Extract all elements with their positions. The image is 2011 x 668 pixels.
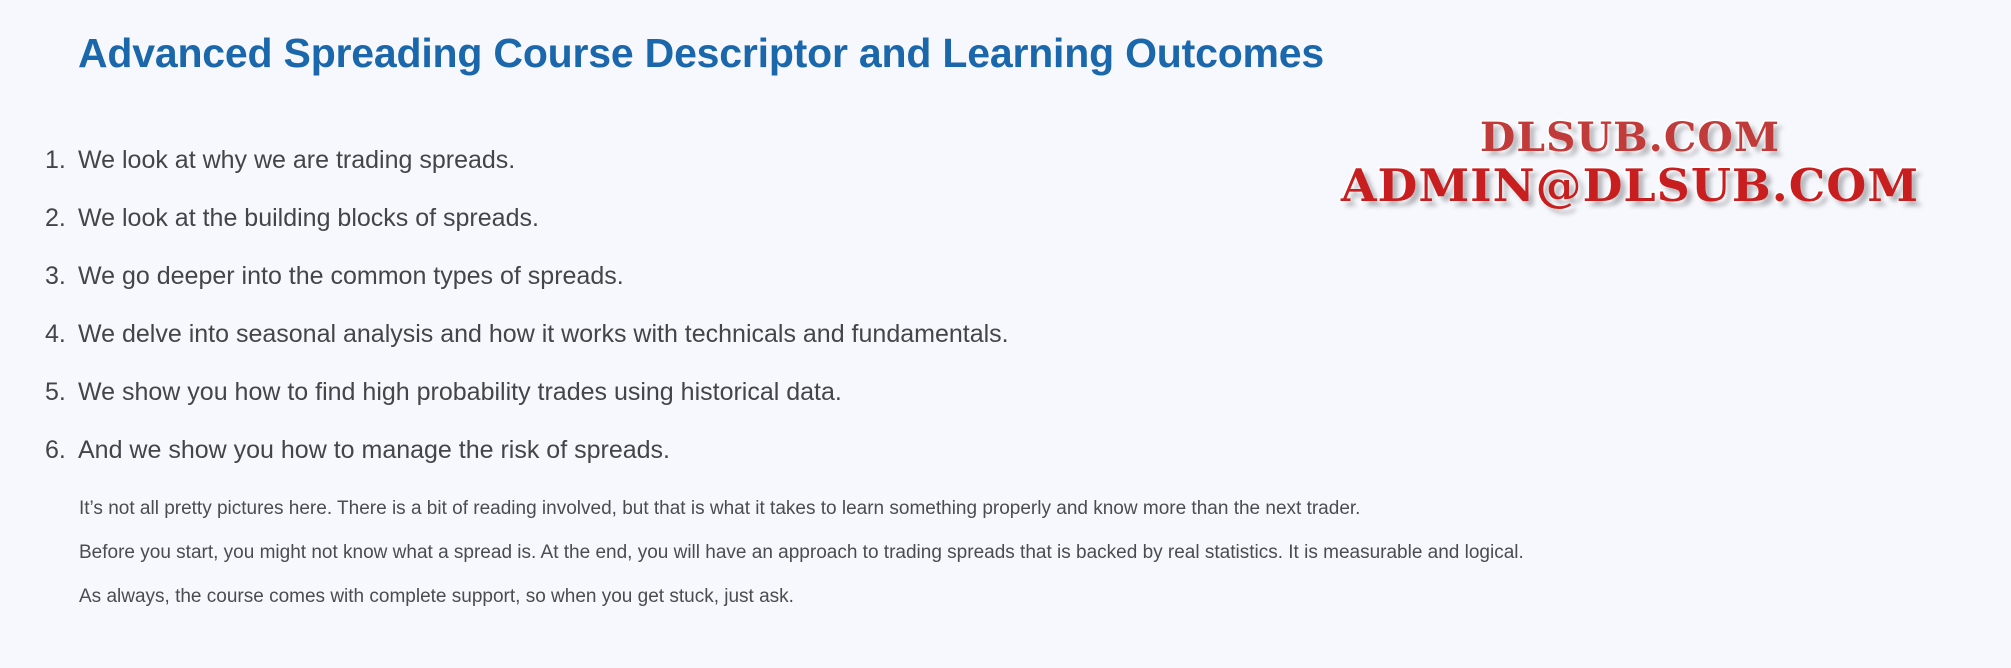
list-item: 1. We look at why we are trading spreads… (45, 138, 1345, 183)
list-item: 5. We show you how to find high probabil… (45, 370, 1345, 415)
learning-outcomes-list: 1. We look at why we are trading spreads… (45, 138, 1345, 486)
list-item: 2. We look at the building blocks of spr… (45, 196, 1345, 241)
closing-notes: It’s not all pretty pictures here. There… (79, 494, 1979, 626)
watermark: DLSUB.COM ADMIN@DLSUB.COM (1280, 118, 1980, 209)
list-item-label: We go deeper into the common types of sp… (78, 254, 624, 299)
watermark-email-label: ADMIN@DLSUB.COM (1273, 163, 1987, 209)
list-item-label: We show you how to find high probability… (78, 370, 842, 415)
list-item: 4. We delve into seasonal analysis and h… (45, 312, 1345, 357)
note-paragraph: As always, the course comes with complet… (79, 582, 1979, 612)
list-item-label: We look at why we are trading spreads. (78, 138, 515, 183)
list-item: 6. And we show you how to manage the ris… (45, 428, 1345, 473)
watermark-site-label: DLSUB.COM (1273, 118, 1987, 159)
list-item-number: 4. (45, 312, 78, 357)
page-title: Advanced Spreading Course Descriptor and… (78, 30, 1324, 77)
note-paragraph: Before you start, you might not know wha… (79, 538, 1979, 568)
list-item-number: 1. (45, 138, 78, 183)
list-item-number: 3. (45, 254, 78, 299)
note-paragraph: It’s not all pretty pictures here. There… (79, 494, 1979, 524)
list-item-label: And we show you how to manage the risk o… (78, 428, 670, 473)
list-item-label: We delve into seasonal analysis and how … (78, 312, 1009, 357)
slide-canvas: Advanced Spreading Course Descriptor and… (0, 0, 2011, 668)
list-item: 3. We go deeper into the common types of… (45, 254, 1345, 299)
list-item-number: 5. (45, 370, 78, 415)
list-item-number: 2. (45, 196, 78, 241)
list-item-label: We look at the building blocks of spread… (78, 196, 539, 241)
list-item-number: 6. (45, 428, 78, 473)
